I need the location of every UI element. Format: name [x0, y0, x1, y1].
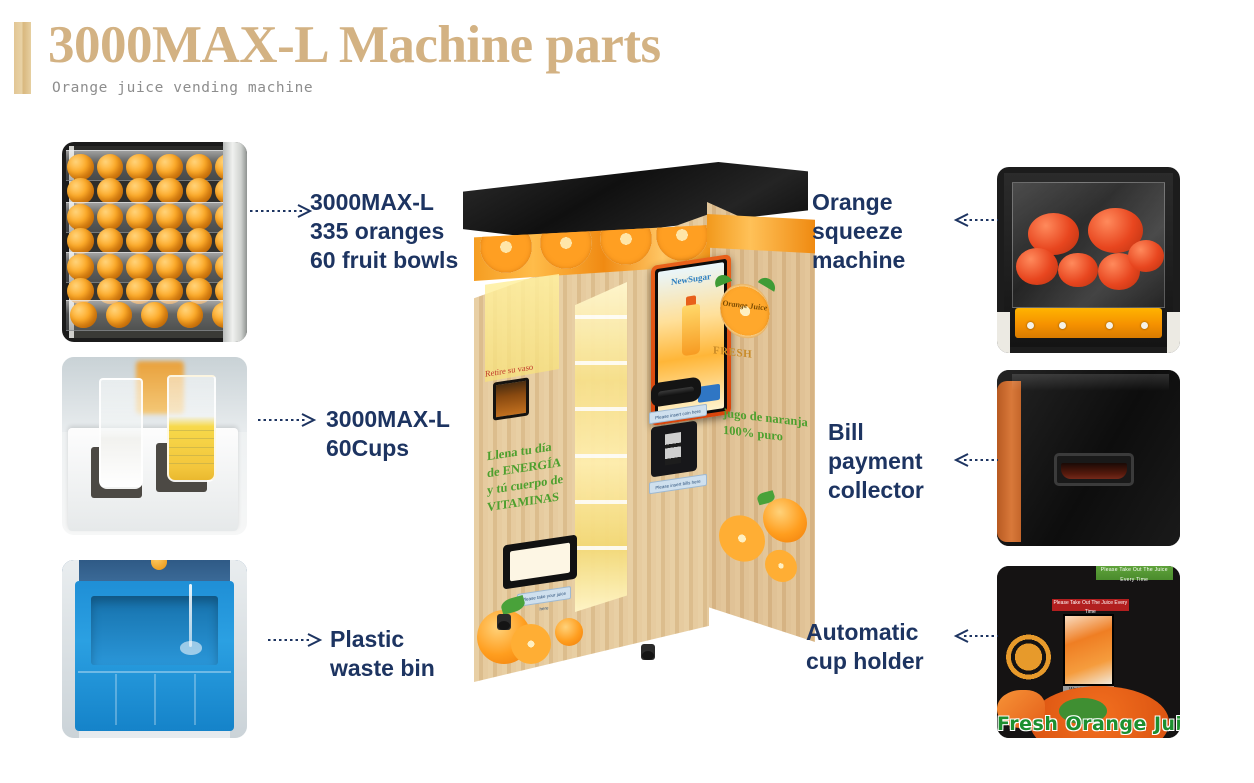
cabinet-right-panel: [223, 142, 247, 342]
squeeze-mechanism-bar: [1015, 308, 1161, 338]
bill-panel-orange-edge: [997, 381, 1021, 543]
machine-orange-juice-badge: Orange Juice: [717, 271, 773, 351]
squeeze-glass-panel: [1012, 182, 1166, 308]
cup-dispense-window[interactable]: [1063, 614, 1114, 686]
machine-wheel-right: [641, 644, 655, 660]
photo-waste-bin: [62, 560, 247, 738]
callout-label-cup-holder: Automatic cup holder: [806, 618, 924, 676]
vending-machine-illustration: NewSugar Retire su vaso Llena tu día de …: [455, 162, 820, 682]
page-subtitle: Orange juice vending machine: [52, 80, 313, 96]
machine-side-fruit-graphic: [713, 486, 815, 628]
photo-cup-storage: [62, 357, 247, 535]
arrow-waste-bin: [268, 632, 324, 648]
holder-top-strip: Please Take Out The Juice Every Time: [1096, 566, 1173, 580]
squeeze-machine-scene: [997, 167, 1180, 353]
arrow-orange-storage: [250, 203, 314, 219]
arrow-cup-holder: [952, 628, 998, 644]
cup-storage-scene: [62, 357, 247, 535]
callout-label-waste-bin: Plastic waste bin: [330, 625, 435, 683]
title-accent-bar: [14, 22, 31, 94]
arrow-bill-collector: [952, 452, 998, 468]
machine-cup-door[interactable]: [493, 377, 529, 420]
orange-storage-scene: [62, 142, 247, 342]
header: 3000MAX-L Machine parts Orange juice ven…: [0, 0, 1254, 120]
machine-bill-reader[interactable]: [651, 421, 697, 478]
holder-brand-text: Fresh Orange Juice: [997, 713, 1180, 735]
callout-label-orange-storage: 3000MAX-L 335 oranges 60 fruit bowls: [310, 188, 458, 275]
funnel: [180, 641, 202, 654]
arrow-squeeze-machine: [952, 212, 998, 228]
blue-crate: [75, 581, 234, 731]
arrow-cup-storage: [258, 412, 318, 428]
page-title: 3000MAX-L Machine parts: [48, 14, 661, 76]
sun-icon: [1001, 628, 1056, 686]
machine-wheel-left: [497, 614, 511, 630]
screen-logo: NewSugar: [663, 270, 718, 299]
holder-warning-strip: Please Take Out The Juice Every Time: [1052, 599, 1129, 611]
callout-label-cup-storage: 3000MAX-L 60Cups: [326, 405, 450, 463]
photo-squeeze-machine: [997, 167, 1180, 353]
callout-label-squeeze-machine: Orange squeeze machine: [812, 188, 905, 275]
waste-bin-scene: [62, 560, 247, 738]
photo-cup-holder: Please Take Out The Juice Every Time Ple…: [997, 566, 1180, 738]
photo-bill-collector: [997, 370, 1180, 546]
callout-label-bill-collector: Bill payment collector: [828, 418, 924, 505]
bill-acceptor-slot[interactable]: [1054, 453, 1135, 486]
cup-column-left: [99, 378, 143, 488]
bill-collector-scene: [997, 370, 1180, 546]
photo-orange-storage: [62, 142, 247, 342]
slide-root: 3000MAX-L Machine parts Orange juice ven…: [0, 0, 1254, 783]
holder-top-strip-text: Please Take Out The Juice Every Time: [1096, 566, 1173, 585]
cup-holder-scene: Please Take Out The Juice Every Time Ple…: [997, 566, 1180, 738]
cup-column-right: [167, 375, 215, 482]
